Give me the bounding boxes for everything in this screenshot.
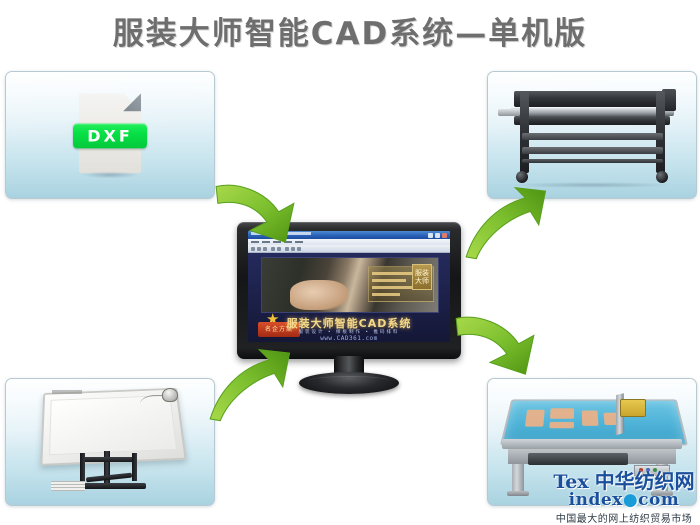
arrow-computer-to-flatbed xyxy=(452,310,538,386)
arrow-digitizer-to-computer xyxy=(206,348,292,424)
icon-drop-shadow xyxy=(81,171,139,178)
dxf-file-panel[interactable]: DXF xyxy=(5,71,215,199)
plotter-side-tray xyxy=(498,109,520,116)
page-title: 服装大师智能CAD系统—单机版 xyxy=(0,8,700,53)
plotter-body xyxy=(514,116,670,125)
stand-brace-left xyxy=(80,453,85,481)
arrow-computer-to-plotter xyxy=(462,186,548,262)
roll-cutting-plotter-panel[interactable] xyxy=(487,71,697,199)
cutting-plotter-image xyxy=(506,87,678,185)
watermark-tagline: 中国最大的网上纺织贸易市场 xyxy=(550,510,698,525)
banner-seal-badge: 服装大师 xyxy=(412,264,432,290)
minimize-icon[interactable] xyxy=(428,233,433,238)
digitizer-board-image xyxy=(42,387,182,497)
table-foot-left xyxy=(507,491,529,496)
indicator-light-red xyxy=(639,468,643,472)
dxf-format-badge: DXF xyxy=(73,124,147,149)
software-splash-screen: 服装大师 ★ 名企方案 服装大师智能CAD系统 服装设计 • 样板制作 • 推码… xyxy=(248,253,450,342)
digitizer-brand-label xyxy=(52,390,82,394)
indicator-light-green xyxy=(653,468,657,472)
pattern-pieces-group xyxy=(525,408,624,428)
dxf-file-icon: DXF xyxy=(79,93,141,173)
table-leg-left xyxy=(512,461,524,495)
pattern-piece xyxy=(549,422,574,428)
pattern-piece xyxy=(582,411,599,426)
stand-brace-right xyxy=(132,453,137,481)
table-front-edge xyxy=(502,439,682,449)
digitizer-tablet-panel[interactable] xyxy=(5,378,215,506)
close-icon[interactable] xyxy=(442,233,447,238)
digitizer-menu-strip xyxy=(51,481,85,491)
banner-text-line xyxy=(372,279,406,282)
splash-banner-photo: 服装大师 xyxy=(261,257,439,313)
flatbed-cutter-image xyxy=(498,391,686,495)
plotter-shelf-upper xyxy=(522,133,663,140)
cutter-head-unit xyxy=(620,399,646,417)
pattern-piece xyxy=(550,408,574,418)
banner-text-line xyxy=(372,272,412,275)
stand-crossbar xyxy=(80,457,136,462)
maximize-icon[interactable] xyxy=(435,233,440,238)
table-drawer-opening xyxy=(528,453,628,465)
splash-website-url: www.CAD361.com xyxy=(248,335,450,342)
plotter-shelf-lower xyxy=(522,147,663,154)
pattern-piece xyxy=(525,410,545,427)
banner-text-line xyxy=(372,286,416,289)
banner-text-line xyxy=(372,293,400,296)
indicator-light-blue xyxy=(646,468,650,472)
plotter-media-basket xyxy=(522,159,663,163)
hands-photo-region xyxy=(290,280,348,310)
digitizer-puck-cursor xyxy=(162,388,178,402)
monitor-base-stand xyxy=(299,372,399,394)
plotter-head-beam xyxy=(514,91,670,107)
machine-control-panel xyxy=(634,465,670,476)
table-foot-right xyxy=(651,491,673,496)
plotter-media-rail xyxy=(510,108,674,116)
flatbed-cutter-panel[interactable] xyxy=(487,378,697,506)
arrow-dxf-to-computer xyxy=(212,178,298,254)
